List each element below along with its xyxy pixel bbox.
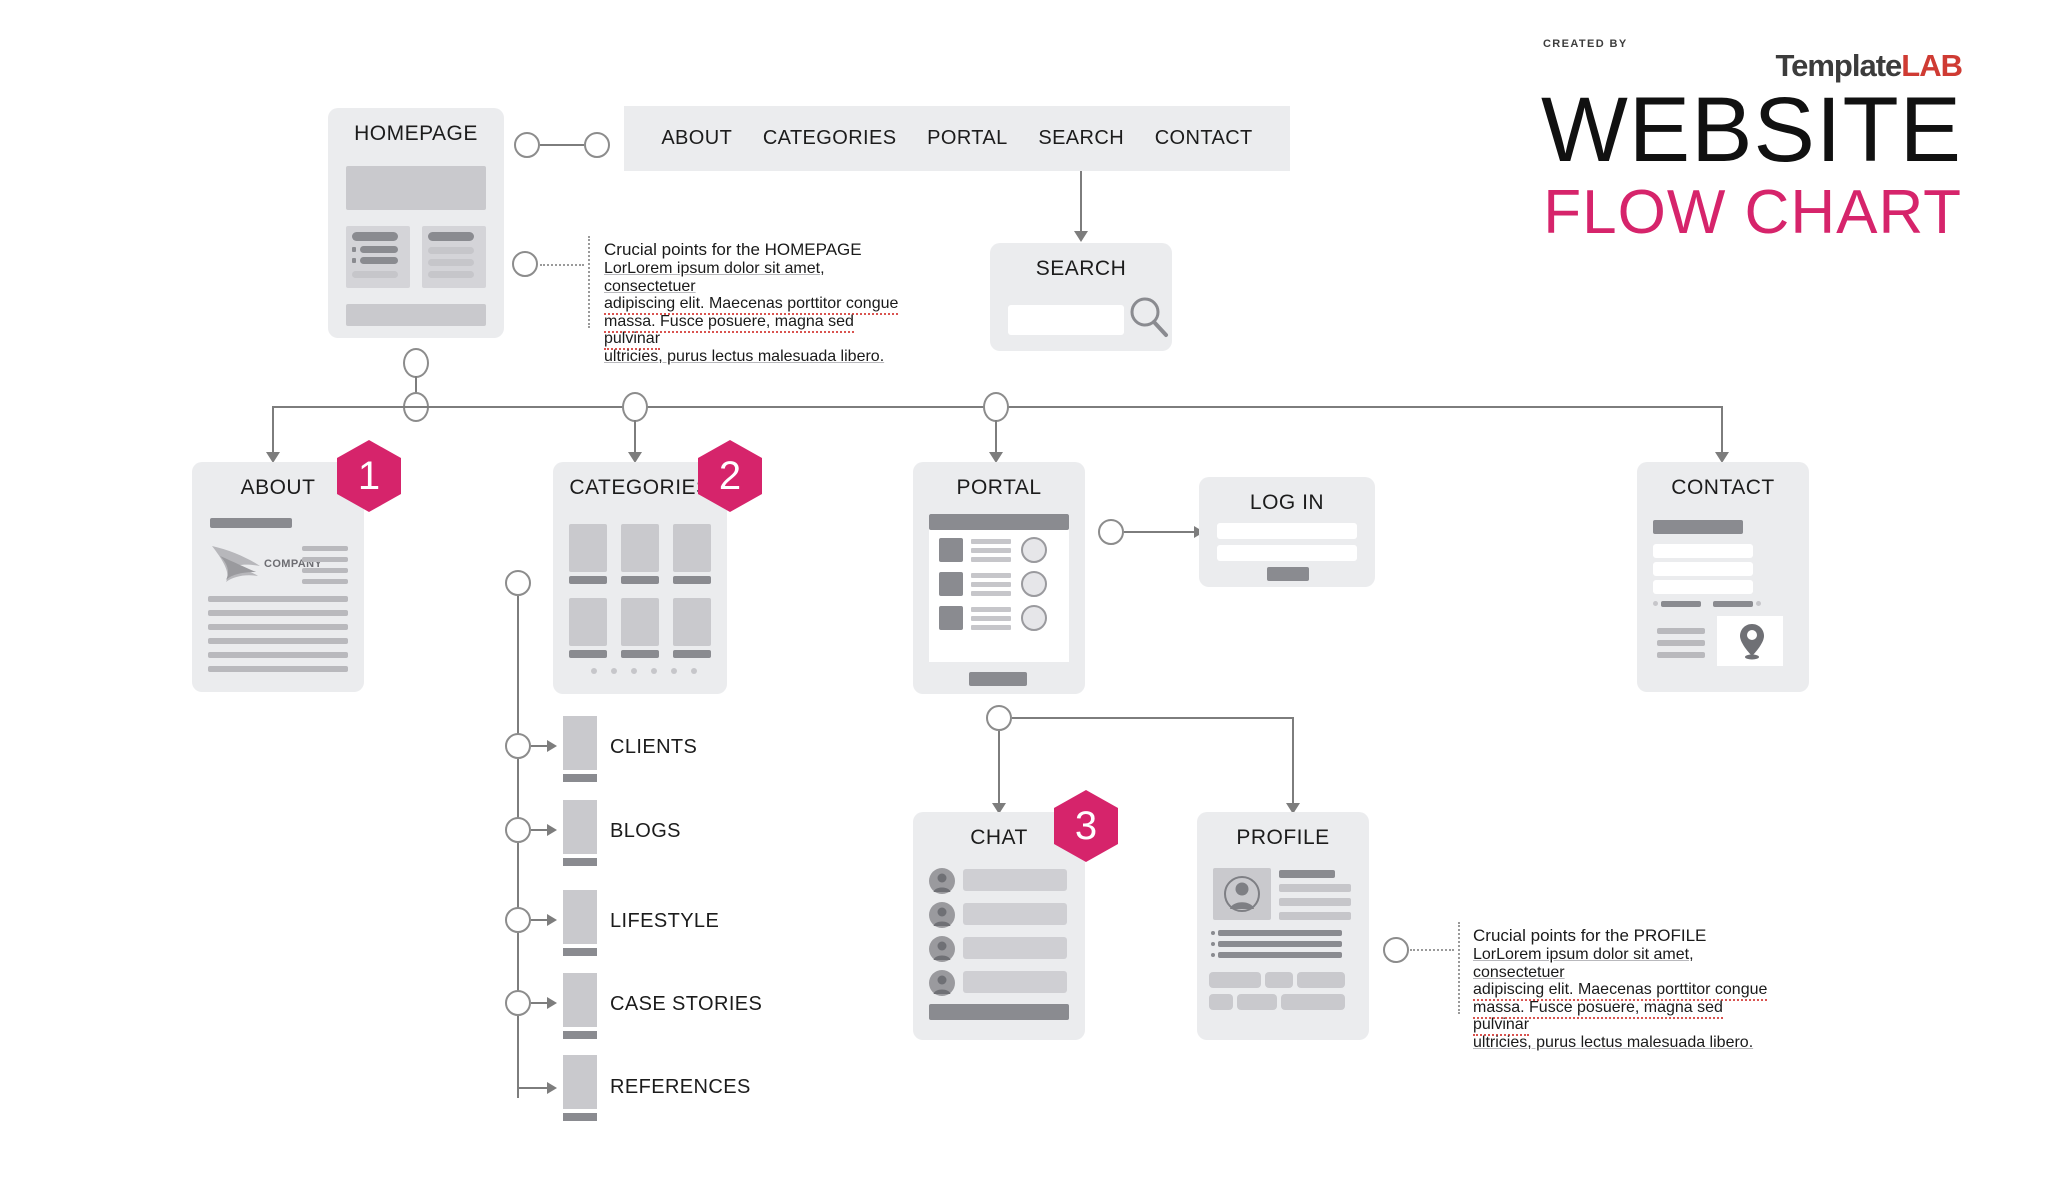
login-password-field[interactable] bbox=[1217, 545, 1357, 561]
connector-node-profile-note bbox=[1383, 937, 1409, 963]
login-submit-button[interactable] bbox=[1267, 567, 1309, 581]
contact-divider-dot-right bbox=[1756, 601, 1761, 606]
page-subtitle: FLOW CHART bbox=[1541, 182, 1962, 244]
portal-row-2-toggle[interactable] bbox=[1021, 571, 1047, 597]
connector-children-rail bbox=[517, 596, 519, 1098]
node-search[interactable]: SEARCH bbox=[990, 243, 1172, 351]
search-title: SEARCH bbox=[990, 243, 1172, 281]
node-about[interactable]: ABOUT COMPANY bbox=[192, 462, 364, 692]
note-homepage-line-3: massa. Fusce posuere, magna sed pulvinar bbox=[604, 313, 854, 351]
contact-info-line-3 bbox=[1657, 652, 1705, 658]
chat-message-3 bbox=[963, 937, 1067, 959]
category-tile-2-bar bbox=[621, 576, 659, 584]
child-bar-references bbox=[563, 1113, 597, 1121]
category-tile-1-bar bbox=[569, 576, 607, 584]
node-login[interactable]: LOG IN bbox=[1199, 477, 1375, 587]
connector-node-case-stories bbox=[505, 990, 531, 1016]
category-tile-4-bar bbox=[569, 650, 607, 658]
about-right-line-2 bbox=[302, 557, 348, 562]
connector-line-references bbox=[517, 1087, 549, 1089]
child-thumb-blogs bbox=[563, 800, 597, 854]
child-bar-lifestyle bbox=[563, 948, 597, 956]
child-thumb-clients bbox=[563, 716, 597, 770]
connector-leg-about bbox=[272, 406, 274, 458]
homepage-hero-block bbox=[346, 166, 486, 210]
contact-heading-bar bbox=[1653, 520, 1743, 534]
connector-navbar-to-search bbox=[1080, 171, 1082, 233]
profile-tag-3[interactable] bbox=[1297, 972, 1345, 988]
chat-input-bar[interactable] bbox=[929, 1004, 1069, 1020]
about-body-line-6 bbox=[208, 666, 348, 672]
child-bar-blogs bbox=[563, 858, 597, 866]
templatelab-logo: TemplateLAB bbox=[1541, 50, 1962, 81]
pagination-dot-3[interactable] bbox=[631, 668, 637, 674]
profile-bullet-line-1 bbox=[1218, 930, 1342, 936]
homepage-panel-left-line-1 bbox=[360, 246, 398, 253]
portal-row-2-line-1 bbox=[971, 573, 1011, 578]
child-label-lifestyle[interactable]: LIFESTYLE bbox=[610, 910, 719, 933]
connector-node-bus-categories bbox=[622, 392, 648, 422]
about-body-line-1 bbox=[208, 596, 348, 602]
arrow-to-references bbox=[547, 1082, 557, 1094]
portal-row-3-toggle[interactable] bbox=[1021, 605, 1047, 631]
portal-header-bar bbox=[929, 514, 1069, 530]
child-label-clients[interactable]: CLIENTS bbox=[610, 736, 697, 759]
category-tile-5-bar bbox=[621, 650, 659, 658]
chat-message-2 bbox=[963, 903, 1067, 925]
category-tile-3[interactable] bbox=[673, 524, 711, 572]
child-label-blogs[interactable]: BLOGS bbox=[610, 820, 681, 843]
connector-node-clients bbox=[505, 733, 531, 759]
profile-detail-line-2 bbox=[1279, 898, 1351, 906]
portal-row-1-line-2 bbox=[971, 548, 1011, 553]
portal-footer-button[interactable] bbox=[969, 672, 1027, 686]
homepage-panel-right-heading bbox=[428, 232, 474, 241]
contact-info-line-2 bbox=[1657, 640, 1705, 646]
connector-node-portal-children bbox=[986, 705, 1012, 731]
contact-field-2[interactable] bbox=[1653, 562, 1753, 576]
note-profile-line-4: ultricies, purus lectus malesuada libero… bbox=[1473, 1034, 1753, 1051]
note-homepage-line-4: ultricies, purus lectus malesuada libero… bbox=[604, 348, 884, 365]
portal-row-3-line-1 bbox=[971, 607, 1011, 612]
homepage-title: HOMEPAGE bbox=[328, 108, 504, 146]
chat-avatar-icon-2 bbox=[929, 902, 955, 928]
page-title: WEBSITE bbox=[1541, 87, 1962, 174]
homepage-panel-right-line-3 bbox=[428, 271, 474, 278]
node-profile[interactable]: PROFILE bbox=[1197, 812, 1369, 1040]
child-thumb-lifestyle bbox=[563, 890, 597, 944]
profile-tag-2[interactable] bbox=[1265, 972, 1293, 988]
contact-title: CONTACT bbox=[1637, 462, 1809, 500]
about-heading-bar bbox=[210, 518, 292, 528]
node-categories[interactable]: CATEGORIES bbox=[553, 462, 727, 694]
dotted-divider-profile-note bbox=[1458, 922, 1460, 1014]
portal-row-2-line-2 bbox=[971, 582, 1011, 587]
nav-item-about[interactable]: ABOUT bbox=[661, 127, 732, 150]
nav-item-categories[interactable]: CATEGORIES bbox=[763, 127, 897, 150]
connector-leg-chat bbox=[998, 731, 1000, 809]
portal-row-1-toggle[interactable] bbox=[1021, 537, 1047, 563]
about-body-line-3 bbox=[208, 624, 348, 630]
logo-template-text: Template bbox=[1775, 48, 1901, 83]
about-body-line-2 bbox=[208, 610, 348, 616]
profile-avatar-icon bbox=[1223, 874, 1261, 914]
contact-info-line-1 bbox=[1657, 628, 1705, 634]
homepage-footer-block bbox=[346, 304, 486, 326]
portal-row-1-thumb bbox=[939, 538, 963, 562]
about-right-line-1 bbox=[302, 546, 348, 551]
nav-item-search[interactable]: SEARCH bbox=[1038, 127, 1124, 150]
pagination-dot-4[interactable] bbox=[651, 668, 657, 674]
child-bar-clients bbox=[563, 774, 597, 782]
note-profile: Crucial points for the PROFILE LorLorem … bbox=[1473, 926, 1783, 1051]
profile-name-bar bbox=[1279, 870, 1335, 878]
pagination-dot-2[interactable] bbox=[611, 668, 617, 674]
connector-branch-horizontal bbox=[1012, 717, 1294, 719]
profile-bullet-3 bbox=[1211, 953, 1215, 957]
pagination-dot-6[interactable] bbox=[691, 668, 697, 674]
about-body-line-4 bbox=[208, 638, 348, 644]
note-profile-title: Crucial points for the PROFILE bbox=[1473, 926, 1783, 946]
child-thumb-case-stories bbox=[563, 973, 597, 1027]
pagination-dot-1[interactable] bbox=[591, 668, 597, 674]
arrow-to-blogs bbox=[547, 824, 557, 836]
category-tile-2[interactable] bbox=[621, 524, 659, 572]
nav-item-contact[interactable]: CONTACT bbox=[1155, 127, 1253, 150]
connector-leg-profile bbox=[1292, 717, 1294, 809]
about-body-line-5 bbox=[208, 652, 348, 658]
map-pin-icon bbox=[1737, 622, 1767, 662]
note-profile-line-3: massa. Fusce posuere, magna sed pulvinar bbox=[1473, 999, 1723, 1037]
homepage-panel-left-line-2 bbox=[360, 257, 398, 264]
brand-header: CREATED BY TemplateLAB WEBSITE FLOW CHAR… bbox=[1541, 38, 1962, 244]
dotted-divider-homepage-note bbox=[588, 236, 590, 328]
logo-lab-text: LAB bbox=[1901, 48, 1962, 83]
profile-detail-line-3 bbox=[1279, 912, 1351, 920]
profile-bullet-line-3 bbox=[1218, 952, 1342, 958]
connector-node-homepage-right bbox=[514, 132, 540, 158]
arrow-to-lifestyle bbox=[547, 914, 557, 926]
dotted-line-homepage-note bbox=[540, 264, 584, 266]
category-tile-3-bar bbox=[673, 576, 711, 584]
category-tile-6[interactable] bbox=[673, 598, 711, 646]
chat-message-4 bbox=[963, 971, 1067, 993]
connector-node-navbar-left bbox=[584, 132, 610, 158]
about-right-line-4 bbox=[302, 579, 348, 584]
arrow-navbar-to-search bbox=[1074, 231, 1088, 242]
search-input[interactable] bbox=[1008, 305, 1124, 335]
portal-row-2-line-3 bbox=[971, 591, 1011, 596]
node-homepage[interactable]: HOMEPAGE bbox=[328, 108, 504, 338]
homepage-bullet-1 bbox=[352, 247, 356, 252]
portal-row-1-line-1 bbox=[971, 539, 1011, 544]
homepage-panel-left-heading bbox=[352, 232, 398, 241]
connector-node-homepage-bottom bbox=[403, 348, 429, 378]
connector-node-homepage-note bbox=[512, 251, 538, 277]
profile-bullet-line-2 bbox=[1218, 941, 1342, 947]
note-homepage: Crucial points for the HOMEPAGE LorLorem… bbox=[604, 240, 914, 365]
portal-title: PORTAL bbox=[913, 462, 1085, 500]
profile-tag-4[interactable] bbox=[1209, 994, 1233, 1010]
contact-divider-bar-left bbox=[1661, 601, 1701, 607]
profile-tag-5[interactable] bbox=[1237, 994, 1277, 1010]
connector-node-lifestyle bbox=[505, 907, 531, 933]
note-homepage-title: Crucial points for the HOMEPAGE bbox=[604, 240, 914, 260]
portal-row-1-line-3 bbox=[971, 557, 1011, 562]
homepage-panel-right-line-2 bbox=[428, 259, 474, 266]
note-homepage-line-1: LorLorem ipsum dolor sit amet, consectet… bbox=[604, 260, 825, 295]
category-tile-6-bar bbox=[673, 650, 711, 658]
profile-detail-line-1 bbox=[1279, 884, 1351, 892]
arrow-to-case-stories bbox=[547, 997, 557, 1009]
connector-node-blogs bbox=[505, 817, 531, 843]
contact-field-3[interactable] bbox=[1653, 580, 1753, 594]
portal-row-3-line-2 bbox=[971, 616, 1011, 621]
contact-divider-bar-right bbox=[1713, 601, 1753, 607]
profile-title: PROFILE bbox=[1197, 812, 1369, 850]
about-right-line-3 bbox=[302, 568, 348, 573]
note-profile-line-1: LorLorem ipsum dolor sit amet, consectet… bbox=[1473, 946, 1694, 981]
child-label-case-stories[interactable]: CASE STORIES bbox=[610, 993, 762, 1016]
chat-avatar-icon-1 bbox=[929, 868, 955, 894]
login-title: LOG IN bbox=[1199, 477, 1375, 515]
pagination-dot-5[interactable] bbox=[671, 668, 677, 674]
portal-row-3-line-3 bbox=[971, 625, 1011, 630]
connector-leg-contact bbox=[1721, 406, 1723, 458]
homepage-panel-right-line-1 bbox=[428, 247, 474, 254]
node-contact[interactable]: CONTACT bbox=[1637, 462, 1809, 692]
profile-tag-1[interactable] bbox=[1209, 972, 1261, 988]
portal-row-2-thumb bbox=[939, 572, 963, 596]
connector-node-categories-children bbox=[505, 570, 531, 596]
connector-node-portal-login bbox=[1098, 519, 1124, 545]
chat-avatar-icon-3 bbox=[929, 936, 955, 962]
category-tile-5[interactable] bbox=[621, 598, 659, 646]
profile-tag-6[interactable] bbox=[1281, 994, 1345, 1010]
connector-node-bus-portal bbox=[983, 392, 1009, 422]
node-portal[interactable]: PORTAL bbox=[913, 462, 1085, 694]
homepage-panel-left-line-3 bbox=[352, 271, 398, 278]
child-bar-case-stories bbox=[563, 1031, 597, 1039]
portal-row-3-thumb bbox=[939, 606, 963, 630]
connector-homepage-to-navbar bbox=[540, 144, 584, 146]
login-username-field[interactable] bbox=[1217, 523, 1357, 539]
contact-field-1[interactable] bbox=[1653, 544, 1753, 558]
connector-line-portal-login bbox=[1124, 531, 1196, 533]
chat-avatar-icon-4 bbox=[929, 970, 955, 996]
search-icon[interactable] bbox=[1126, 295, 1172, 341]
homepage-bullet-2 bbox=[352, 258, 356, 263]
category-tile-4[interactable] bbox=[569, 598, 607, 646]
child-label-references[interactable]: REFERENCES bbox=[610, 1076, 751, 1099]
chat-message-1 bbox=[963, 869, 1067, 891]
contact-divider-dot-left bbox=[1653, 601, 1658, 606]
site-navbar[interactable]: ABOUT CATEGORIES PORTAL SEARCH CONTACT bbox=[624, 106, 1290, 171]
dotted-line-profile-note bbox=[1410, 949, 1454, 951]
arrow-to-clients bbox=[547, 740, 557, 752]
profile-bullet-2 bbox=[1211, 942, 1215, 946]
nav-item-portal[interactable]: PORTAL bbox=[927, 127, 1008, 150]
category-tile-1[interactable] bbox=[569, 524, 607, 572]
child-thumb-references bbox=[563, 1055, 597, 1109]
profile-bullet-1 bbox=[1211, 931, 1215, 935]
